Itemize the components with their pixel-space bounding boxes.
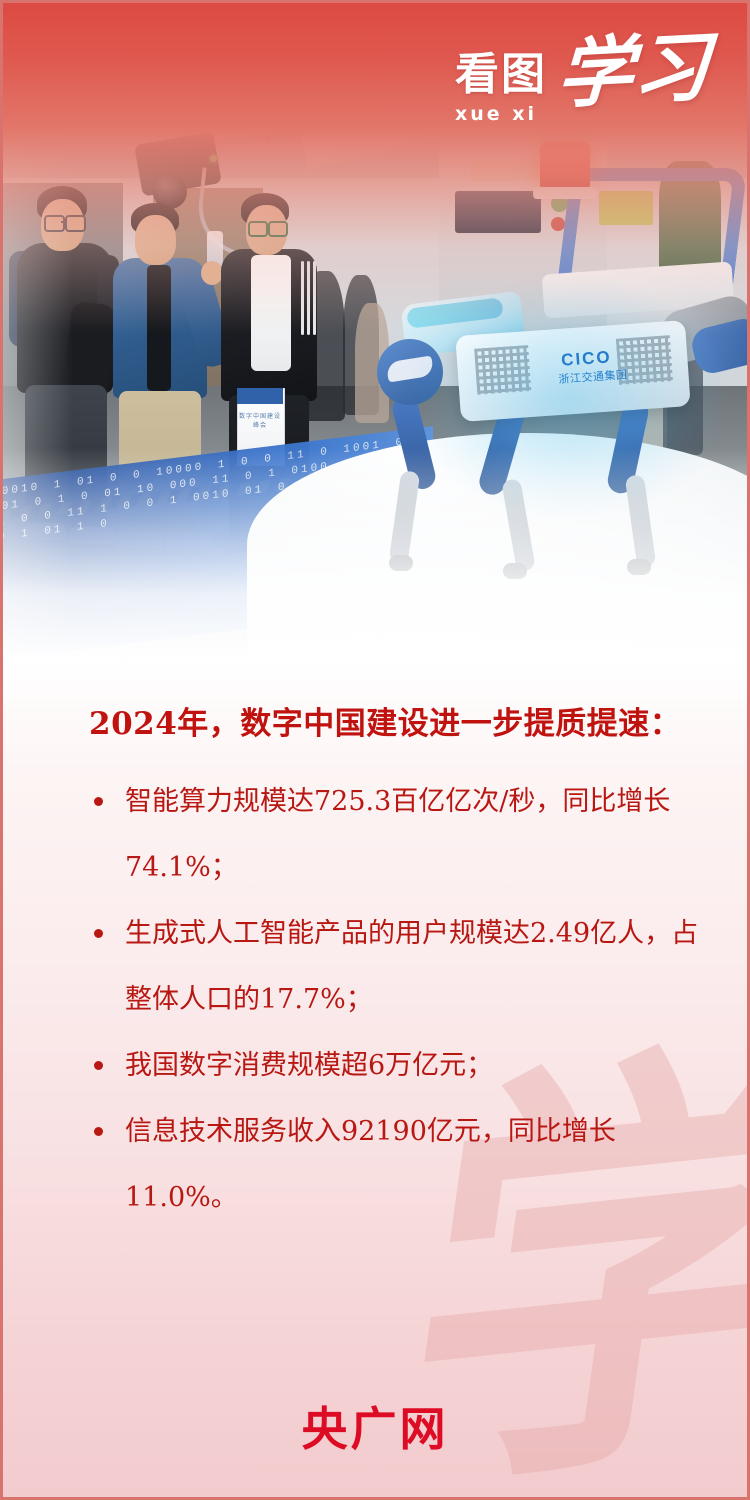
- page-title: 2024年，数字中国建设进一步提质提速：: [89, 698, 699, 743]
- tote-bag-text: 数字中国建设峰会: [239, 411, 281, 429]
- footer-logo-text: 央广网: [302, 1402, 449, 1456]
- robot-brand-cn: 浙江交通集团: [558, 366, 628, 387]
- tote-bag-band: [237, 388, 283, 404]
- statistics-list: 智能算力规模达725.3百亿亿次/秒，同比增长74.1%； 生成式人工智能产品的…: [83, 769, 699, 1231]
- robot-vent-grille: [474, 345, 531, 395]
- photo-bottom-fade: [3, 448, 747, 663]
- header-logo-pinyin: xue xi: [455, 103, 547, 125]
- robot-body: CICO 浙江交通集团: [455, 320, 690, 422]
- list-item: 智能算力规模达725.3百亿亿次/秒，同比增长74.1%；: [83, 769, 699, 901]
- list-item: 生成式人工智能产品的用户规模达2.49亿人，占整体人口的17.7%；: [83, 901, 699, 1033]
- header-logo-kantu: 看图: [455, 53, 547, 97]
- footer-logo: 央广网: [3, 1393, 747, 1459]
- header-logo: 看图 xue xi 学习: [455, 53, 709, 125]
- list-item: 信息技术服务收入92190亿元，同比增长11.0%。: [83, 1099, 699, 1231]
- poster-root: ARX: [0, 0, 750, 1500]
- list-item: 我国数字消费规模超6万亿元；: [83, 1033, 699, 1099]
- header-logo-calligraphy: 学习: [555, 31, 711, 111]
- content-block: 2024年，数字中国建设进一步提质提速： 智能算力规模达725.3百亿亿次/秒，…: [3, 698, 747, 1231]
